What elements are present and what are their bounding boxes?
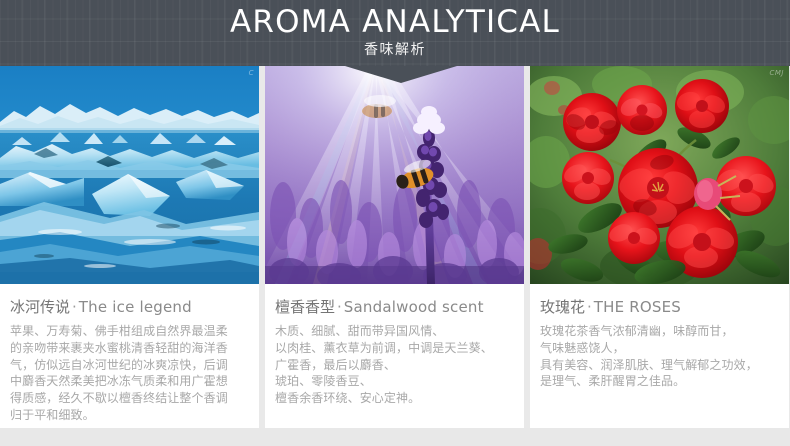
panel-body-text: 玫瑰花茶香气浓郁清幽，味醇而甘， 气味魅惑饶人， 具有美容、润泽肌肤、理气解郁之… xyxy=(540,323,779,390)
page-title: AROMA ANALYTICAL xyxy=(0,5,790,39)
panel-heading: 冰河传说·The ice legend xyxy=(10,297,249,317)
panel-heading: 玫瑰花·THE ROSES xyxy=(540,297,779,317)
panel-heading: 檀香香型·Sandalwood scent xyxy=(275,297,514,317)
page-header-banner: AROMA ANALYTICAL 香味解析 xyxy=(0,0,790,66)
panel-body-text: 木质、细腻、甜而带异国风情、 以肉桂、薰衣草为前调，中调是天兰葵、 广霍香，最后… xyxy=(275,323,514,407)
page-subtitle: 香味解析 xyxy=(0,41,790,59)
panel-text-block: 檀香香型·Sandalwood scent 木质、细腻、甜而带异国风情、 以肉桂… xyxy=(265,284,524,428)
panel-ice-legend[interactable]: C 冰河传说·The ice legend 苹果、万寿菊、佛手柑组成自然界最温柔… xyxy=(0,66,259,428)
bottom-background-strip xyxy=(0,428,790,446)
red-roses-photo: CMJ xyxy=(530,66,789,284)
header-chevron-notch xyxy=(345,66,457,83)
panel-heading-cn: 冰河传说 xyxy=(10,298,70,316)
heading-separator-dot: · xyxy=(70,298,79,316)
photo-watermark: CMJ xyxy=(770,69,785,77)
panel-row: C 冰河传说·The ice legend 苹果、万寿菊、佛手柑组成自然界最温柔… xyxy=(0,66,790,428)
panel-body-text: 苹果、万寿菊、佛手柑组成自然界最温柔 的亲吻带来裹夹水蜜桃清香轻甜的海洋香 气，… xyxy=(10,323,249,424)
panel-the-roses[interactable]: CMJ 玫瑰花·THE ROSES 玫瑰花茶香气浓郁清幽，味醇而甘， 气味魅惑饶… xyxy=(530,66,789,428)
lavender-field-bee-photo xyxy=(265,66,524,284)
panel-heading-en: The ice legend xyxy=(79,298,192,316)
panel-heading-cn: 玫瑰花 xyxy=(540,298,585,316)
panel-heading-en: THE ROSES xyxy=(594,298,681,316)
panel-text-block: 玫瑰花·THE ROSES 玫瑰花茶香气浓郁清幽，味醇而甘， 气味魅惑饶人， 具… xyxy=(530,284,789,428)
photo-watermark: C xyxy=(249,69,254,77)
glacier-icebergs-photo: C xyxy=(0,66,259,284)
panel-heading-en: Sandalwood scent xyxy=(344,298,484,316)
panel-sandalwood-scent[interactable]: 檀香香型·Sandalwood scent 木质、细腻、甜而带异国风情、 以肉桂… xyxy=(265,66,524,428)
heading-separator-dot: · xyxy=(585,298,594,316)
panel-heading-cn: 檀香香型 xyxy=(275,298,335,316)
heading-separator-dot: · xyxy=(335,298,344,316)
aroma-analytical-page: AROMA ANALYTICAL 香味解析 xyxy=(0,0,790,446)
panel-text-block: 冰河传说·The ice legend 苹果、万寿菊、佛手柑组成自然界最温柔 的… xyxy=(0,284,259,428)
